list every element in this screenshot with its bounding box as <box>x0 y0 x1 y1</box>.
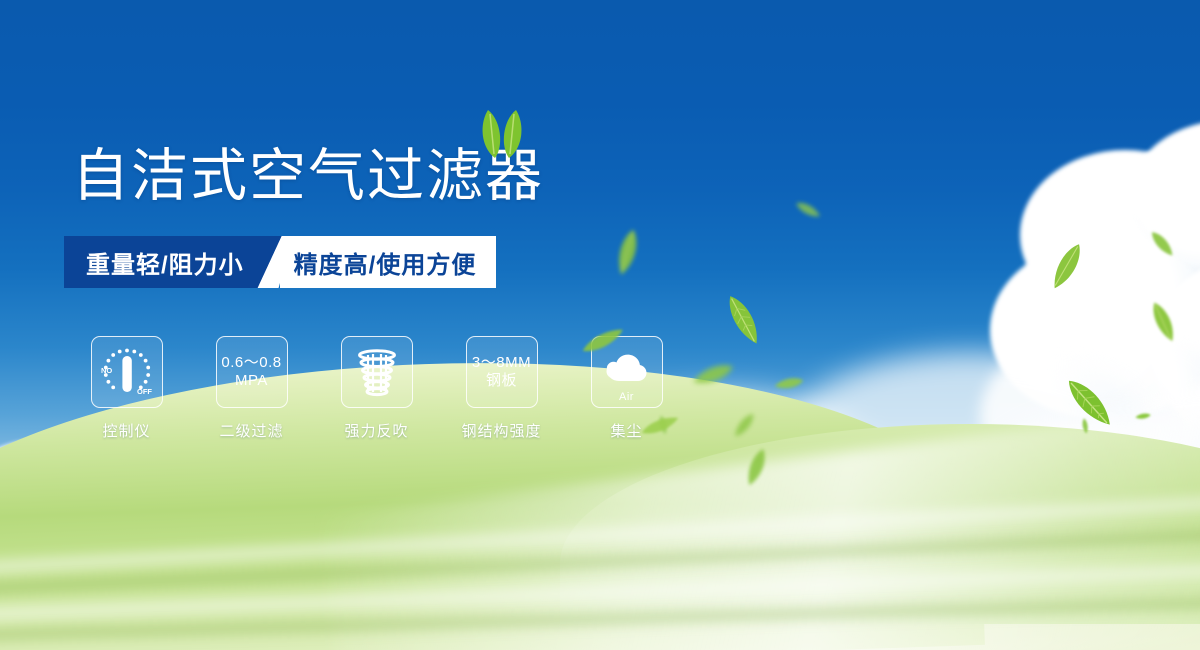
air-label: Air <box>619 391 634 403</box>
feature-icon-box: Air <box>591 336 663 408</box>
pressure-text-icon: 0.6〜0.8 MPA <box>221 354 281 390</box>
filter-stack-icon <box>347 342 407 402</box>
feature-item-steel-strength[interactable]: 3〜8MM 钢板 钢结构强度 <box>439 336 564 441</box>
pressure-value: 0.6〜0.8 <box>221 354 281 371</box>
subtitle-right-panel: 精度高/使用方便 <box>280 236 497 288</box>
pressure-unit: MPA <box>221 372 281 390</box>
product-banner: 自洁式空气过滤器 重量轻/阻力小 精度高/使用方便 <box>0 0 1200 650</box>
feature-item-two-stage-filter[interactable]: 0.6〜0.8 MPA 二级过滤 <box>189 336 314 441</box>
feature-label: 控制仪 <box>102 420 150 441</box>
feature-label: 集尘 <box>610 420 642 441</box>
feature-label: 强力反吹 <box>344 420 408 441</box>
subtitle-bar: 重量轻/阻力小 精度高/使用方便 <box>64 236 496 288</box>
svg-text:OFF: OFF <box>137 387 152 396</box>
svg-text:NO: NO <box>101 366 112 375</box>
steel-material: 钢板 <box>472 372 531 390</box>
feature-icon-box: 3〜8MM 钢板 <box>466 336 538 408</box>
dial-gauge-icon: NO OFF <box>97 342 157 402</box>
steel-plate-text-icon: 3〜8MM 钢板 <box>472 354 531 390</box>
grass-field <box>0 460 1200 650</box>
feature-icon-box: NO OFF <box>91 336 163 408</box>
feature-icon-box <box>341 336 413 408</box>
subtitle-left-panel: 重量轻/阻力小 <box>64 236 270 288</box>
feature-item-strong-blowback[interactable]: 强力反吹 <box>314 336 439 441</box>
sprout-leaves-icon <box>471 108 533 160</box>
steel-thickness: 3〜8MM <box>472 354 531 371</box>
feature-item-controller[interactable]: NO OFF 控制仪 <box>64 336 189 441</box>
feature-list: NO OFF 控制仪 0.6〜0.8 MPA 二级过滤 <box>64 336 689 441</box>
feature-label: 二级过滤 <box>219 420 283 441</box>
feature-label: 钢结构强度 <box>461 420 541 441</box>
feature-item-dust-collection[interactable]: Air 集尘 <box>564 336 689 441</box>
feature-icon-box: 0.6〜0.8 MPA <box>216 336 288 408</box>
